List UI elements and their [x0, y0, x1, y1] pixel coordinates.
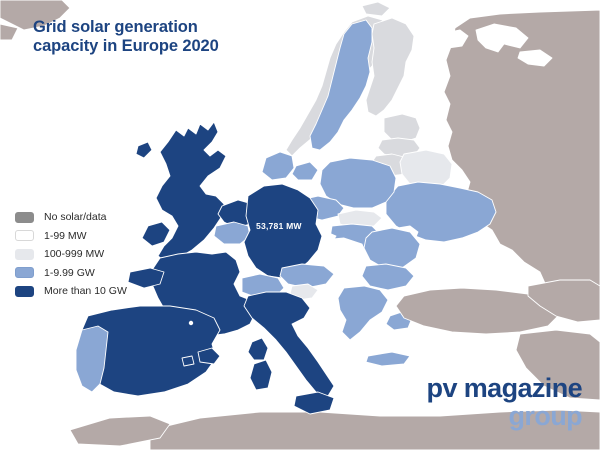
title-line-2: capacity in Europe 2020 [33, 37, 283, 56]
germany-capacity-label: 53,781 MW [256, 221, 302, 231]
region-andorra [189, 321, 193, 325]
legend-swatch-no-solar-data [15, 212, 34, 223]
legend-item-1-9-99-gw: 1-9.99 GW [15, 264, 127, 283]
title-line-1: Grid solar generation [33, 18, 283, 37]
legend-swatch-1-9-99-gw [15, 267, 34, 278]
pv-magazine-group-logo: pv magazine group [427, 375, 582, 430]
region-baltics [384, 114, 420, 142]
legend-swatch-1-99-mw [15, 230, 34, 241]
legend-swatch-100-999-mw [15, 249, 34, 260]
legend-label-more-than-10-gw: More than 10 GW [44, 285, 127, 297]
legend-item-more-than-10-gw: More than 10 GW [15, 282, 127, 301]
infographic-map-page: Grid solar generation capacity in Europe… [0, 0, 600, 450]
map-legend: No solar/data 1-99 MW 100-999 MW 1-9.99 … [15, 208, 127, 301]
legend-label-1-99-mw: 1-99 MW [44, 230, 87, 242]
logo-sub-text: group [427, 403, 582, 430]
legend-swatch-more-than-10-gw [15, 286, 34, 297]
legend-item-100-999-mw: 100-999 MW [15, 245, 127, 264]
region-bulgaria [362, 264, 414, 290]
region-balearics-small [182, 356, 194, 366]
legend-label-1-9-99-gw: 1-9.99 GW [44, 267, 95, 279]
logo-main-text: pv magazine [427, 375, 582, 402]
legend-label-100-999-mw: 100-999 MW [44, 248, 104, 260]
page-title: Grid solar generation capacity in Europe… [33, 18, 283, 56]
legend-label-no-solar-data: No solar/data [44, 211, 106, 223]
legend-item-no-solar-data: No solar/data [15, 208, 127, 227]
legend-item-1-99-mw: 1-99 MW [15, 227, 127, 246]
